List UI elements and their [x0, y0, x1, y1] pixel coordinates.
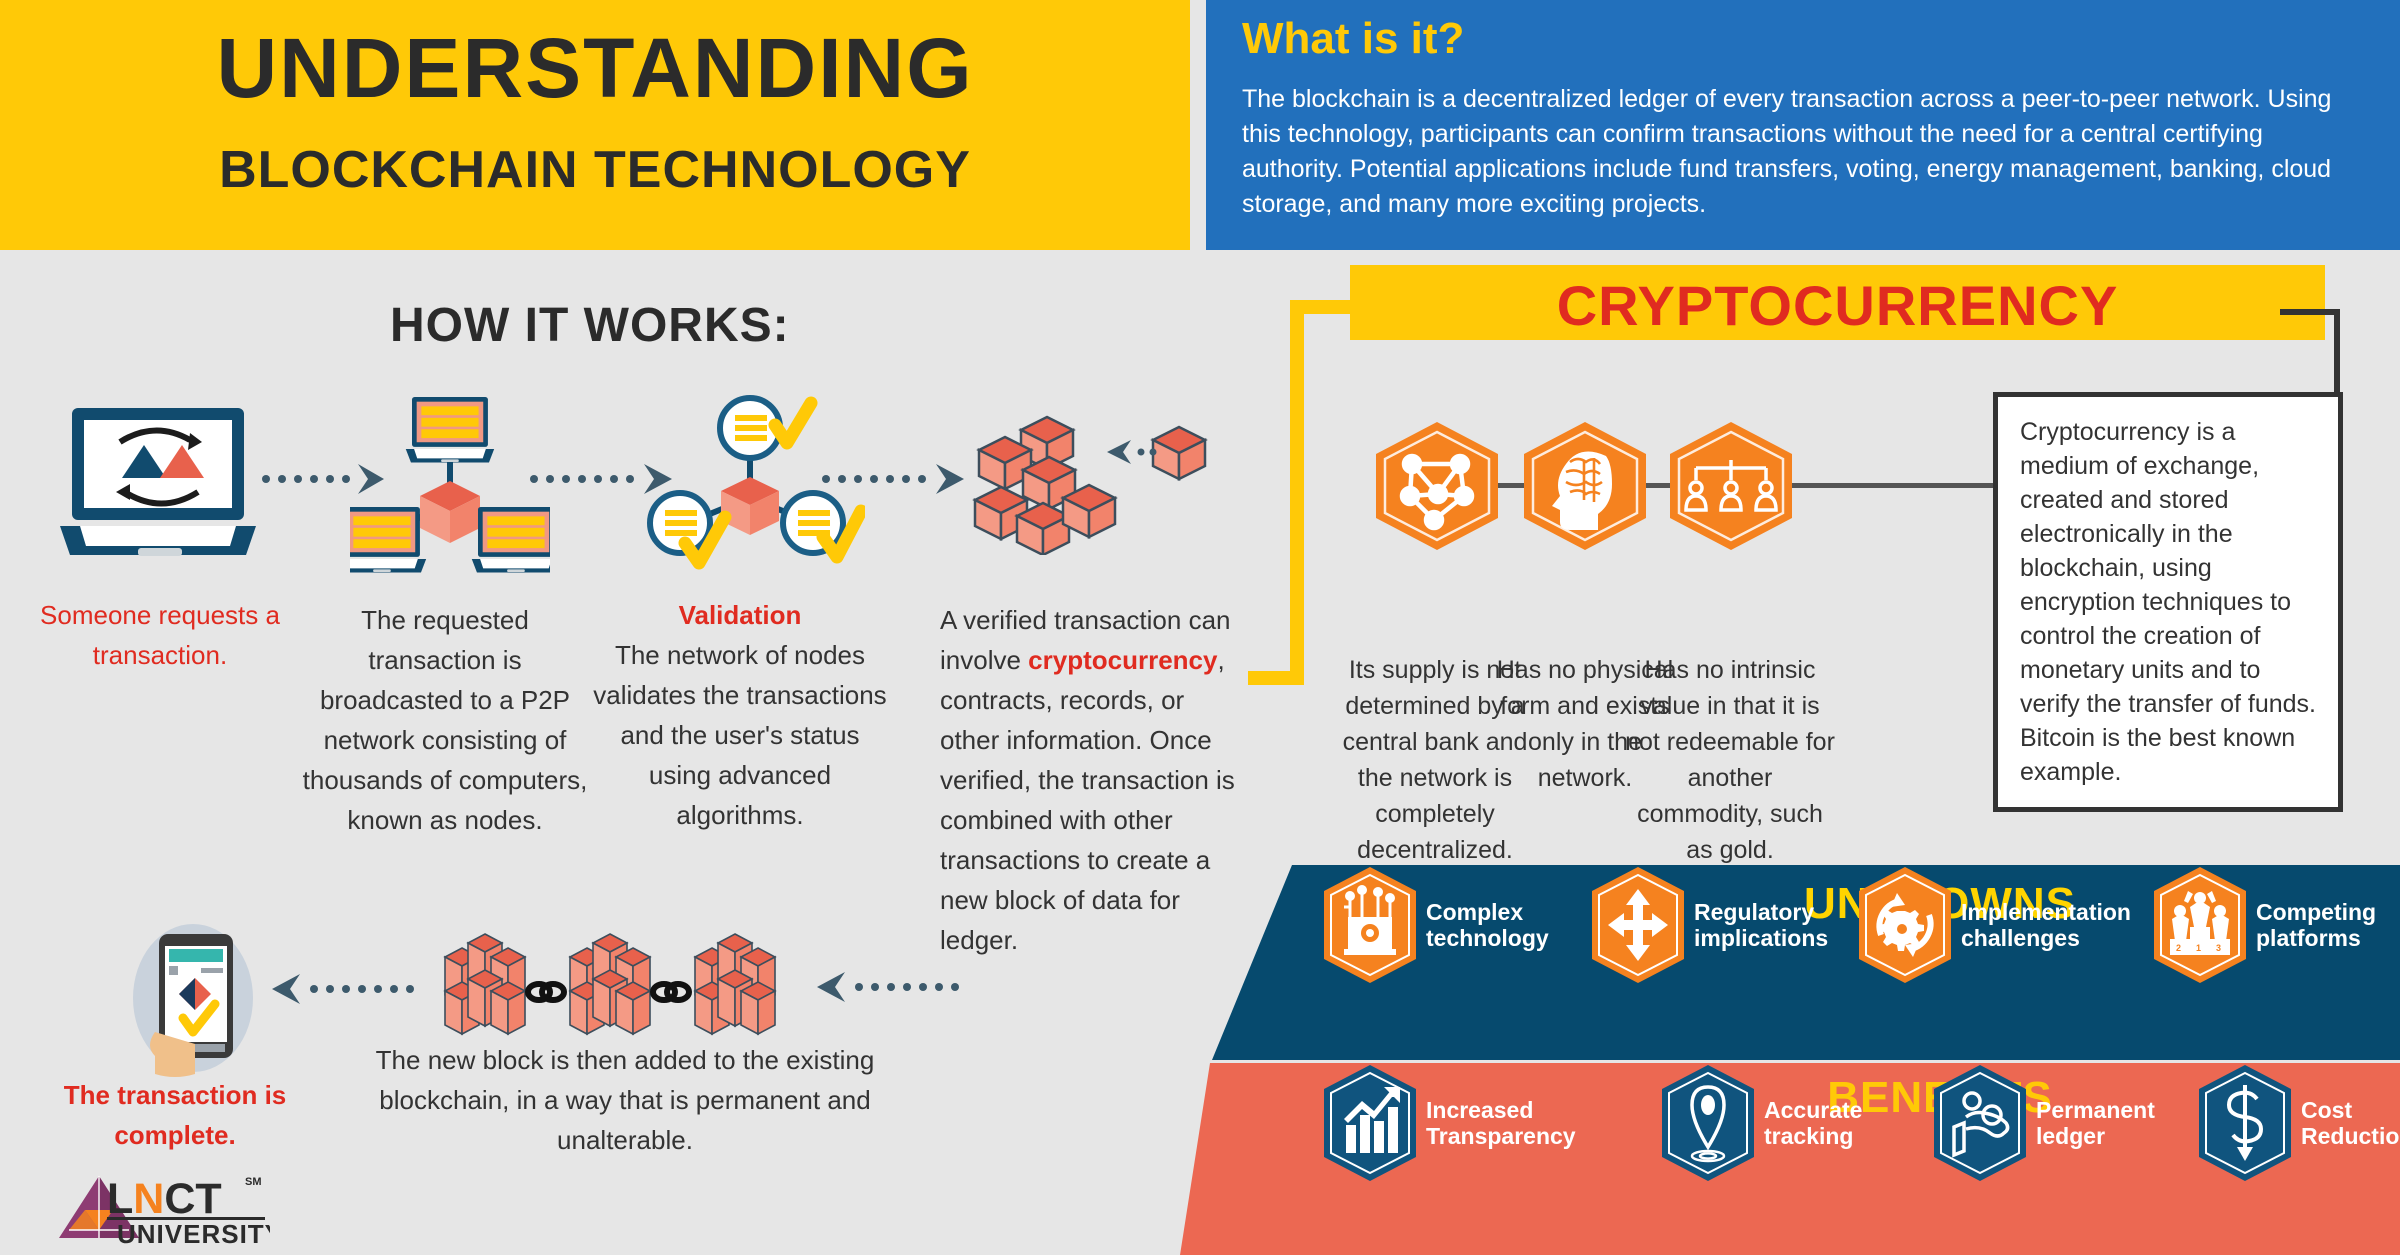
svg-text:1: 1 [2196, 943, 2201, 953]
svg-text:3: 3 [2216, 943, 2221, 953]
org-chart-people-icon [1666, 420, 1796, 552]
benefits-item-4-label: CostReduction [2301, 1097, 2400, 1149]
page-subtitle: BLOCKCHAIN TECHNOLOGY [0, 140, 1190, 200]
unknowns-item-3: Implementationchallenges [1855, 865, 2131, 985]
podium-people-icon: 123 [2150, 865, 2250, 985]
crypto-bracket-left-vertical [1290, 300, 1304, 685]
dollar-down-icon [2195, 1063, 2295, 1183]
page-title: UNDERSTANDING [0, 20, 1190, 117]
logo-lnct-text: LNCT [107, 1175, 222, 1223]
crypto-bracket-right-top [2280, 309, 2340, 315]
what-is-it-panel: What is it? The blockchain is a decentra… [1206, 0, 2400, 250]
step-4-text: A verified transaction can involve crypt… [940, 600, 1240, 960]
circuit-board-icon [1320, 865, 1420, 985]
step-3-body: The network of nodes validates the trans… [593, 640, 886, 830]
map-pin-icon [1658, 1063, 1758, 1183]
step-4-text-after: , contracts, records, or other informati… [940, 645, 1235, 955]
unknowns-item-2: Regulatoryimplications [1588, 865, 1828, 985]
logo-university-text: UNIVERSITY [117, 1219, 270, 1248]
step-5-text: The new block is then added to the exist… [355, 1040, 895, 1160]
crypto-bracket-left-bottom [1248, 671, 1304, 685]
laptop-exchange-icon [50, 400, 270, 570]
title-banner: UNDERSTANDING BLOCKCHAIN TECHNOLOGY [0, 0, 1190, 250]
benefits-item-2: Accuratetracking [1658, 1063, 1862, 1183]
svg-text:2: 2 [2176, 943, 2181, 953]
unknowns-item-4-label: Competingplatforms [2256, 899, 2376, 951]
block-cluster-icon [945, 395, 1225, 555]
unknowns-item-3-label: Implementationchallenges [1961, 899, 2131, 951]
benefits-item-3-label: Permanentledger [2036, 1097, 2155, 1149]
step-1-text: Someone requests a transaction. [30, 595, 290, 675]
benefits-item-3: Permanentledger [1930, 1063, 2155, 1183]
four-arrows-icon [1588, 865, 1688, 985]
network-graph-icon [1372, 420, 1502, 552]
benefits-item-1: IncreasedTransparency [1320, 1063, 1576, 1183]
arrow-left-icon-2 [270, 972, 415, 1006]
unknowns-item-1: Complextechnology [1320, 865, 1549, 985]
step-6-text: The transaction is complete. [30, 1075, 320, 1155]
unknowns-item-1-label: Complextechnology [1426, 899, 1549, 951]
arrow-left-icon-1 [815, 970, 960, 1004]
logo-sm-mark: SM [245, 1176, 262, 1188]
blockchain-links-icon [435, 930, 815, 1050]
benefits-panel: BENEFITS IncreasedTransparency [1180, 1063, 2400, 1255]
step-3-heading: Validation [679, 600, 802, 630]
benefits-item-1-label: IncreasedTransparency [1426, 1097, 1576, 1149]
step-4-highlight: cryptocurrency [1028, 645, 1217, 675]
what-is-it-heading: What is it? [1242, 14, 1464, 64]
unknowns-item-4: 123 Competingplatforms [2150, 865, 2376, 985]
cryptocurrency-definition-box: Cryptocurrency is a medium of exchange, … [1993, 392, 2343, 812]
gear-refresh-icon [1855, 865, 1955, 985]
cryptocurrency-banner: CRYPTOCURRENCY [1350, 265, 2325, 340]
p2p-network-icon [350, 395, 550, 575]
lnct-university-logo: LNCT SM UNIVERSITY [55, 1168, 270, 1248]
step-3-text: Validation The network of nodes validate… [590, 595, 890, 835]
bar-chart-up-icon [1320, 1063, 1420, 1183]
benefits-item-4: CostReduction [2195, 1063, 2400, 1183]
what-is-it-body-text: The blockchain is a decentralized ledger… [1242, 82, 2352, 222]
step-2-text: The requested transaction is broadcasted… [300, 600, 590, 840]
unknowns-item-2-label: Regulatoryimplications [1694, 899, 1828, 951]
phone-check-icon [115, 920, 275, 1080]
benefits-item-2-label: Accuratetracking [1764, 1097, 1862, 1149]
crypto-item-3-text: Has no intrinsic value in that it is not… [1625, 652, 1835, 868]
hand-coins-icon [1930, 1063, 2030, 1183]
brain-head-icon [1520, 420, 1650, 552]
cryptocurrency-definition-text: Cryptocurrency is a medium of exchange, … [1998, 397, 2338, 807]
how-it-works-heading: HOW IT WORKS: [390, 298, 790, 353]
unknowns-panel: UNKNOWNS Complextechnology [1180, 865, 2400, 1060]
cryptocurrency-heading: CRYPTOCURRENCY [1350, 273, 2325, 338]
